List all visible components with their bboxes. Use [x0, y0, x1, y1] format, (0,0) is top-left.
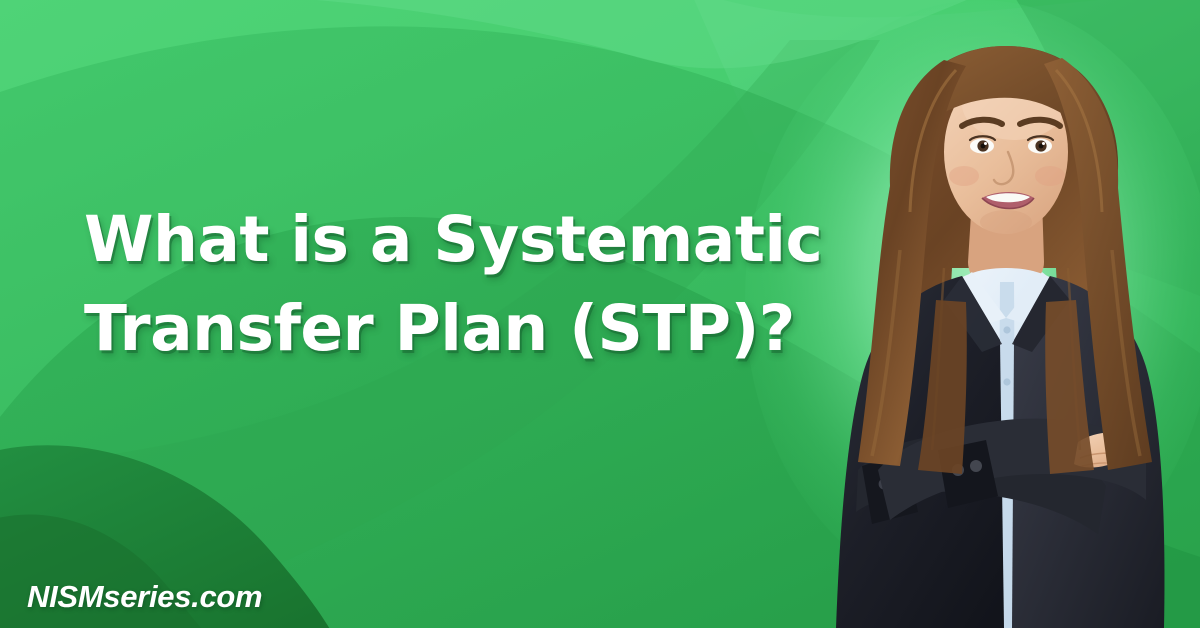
promo-banner: What is a Systematic Transfer Plan (STP)…: [0, 0, 1200, 628]
headline-line-2: Transfer Plan (STP)?: [84, 295, 844, 362]
site-logo-text[interactable]: NISMseries.com: [27, 580, 262, 614]
headline: What is a Systematic Transfer Plan (STP)…: [84, 206, 844, 362]
headline-line-1: What is a Systematic: [84, 206, 844, 273]
